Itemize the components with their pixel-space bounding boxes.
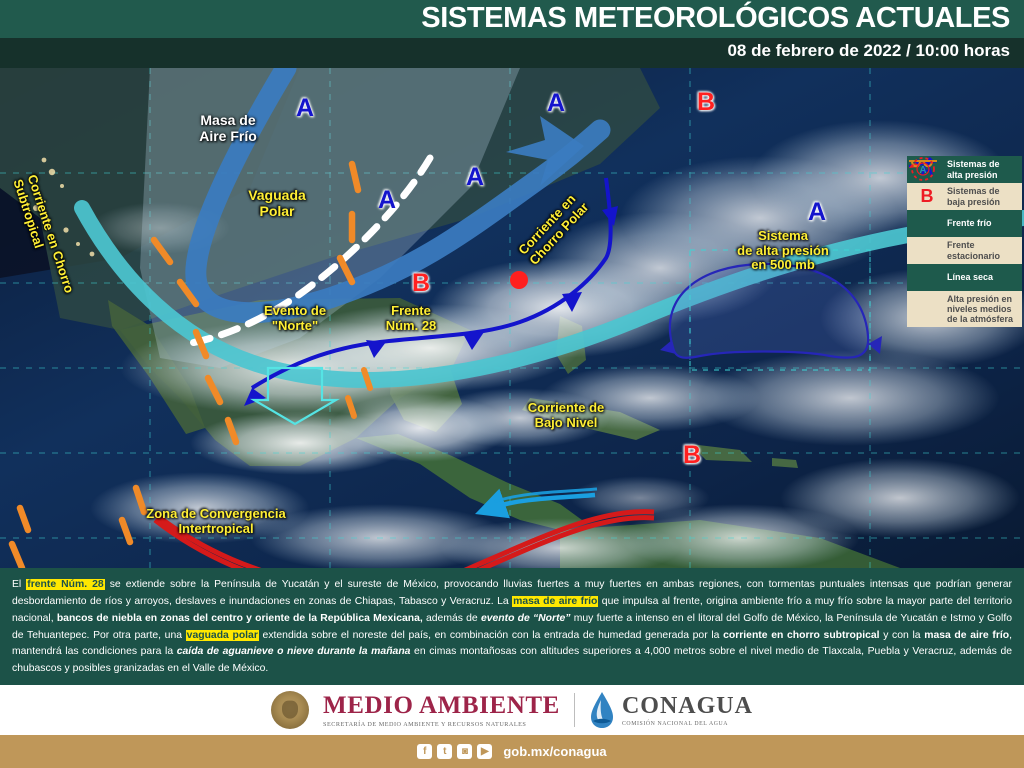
conagua-water-drop-icon: [589, 691, 615, 729]
pressure-marker-A: A: [378, 186, 396, 215]
mexico-coat-of-arms-icon: [271, 691, 309, 729]
facebook-icon[interactable]: f: [417, 744, 432, 759]
legend-row-3: Frente estacionario: [907, 237, 1022, 264]
twitter-icon[interactable]: t: [437, 744, 452, 759]
legend-label-4: Línea seca: [947, 269, 996, 285]
pressure-marker-B: B: [683, 441, 701, 470]
youtube-icon[interactable]: ▶: [477, 744, 492, 759]
legend-row-4: Línea seca: [907, 264, 1022, 291]
weather-bulletin-page: SISTEMAS METEOROLÓGICOS ACTUALES 08 de f…: [0, 0, 1024, 768]
satellite-weather-map[interactable]: Masa de Aire Frío Vaguada Polar Corrient…: [0, 68, 1024, 568]
legend-row-1: BSistemas de baja presión: [907, 183, 1022, 210]
text-emphasis: vaguada polar: [186, 630, 259, 641]
conagua-wordmark: CONAGUA: [622, 694, 753, 718]
text-emphasis: corriente en chorro subtropical: [723, 630, 879, 641]
letter-B-red-icon: B: [921, 186, 934, 207]
forecast-text-panel: El frente Núm. 28 se extiende sobre la P…: [0, 568, 1024, 685]
pressure-marker-A: A: [808, 198, 826, 227]
front-low-center: [510, 271, 528, 289]
text-emphasis: caída de aguanieve o nieve durante la ma…: [177, 646, 411, 657]
legend-label-0: Sistemas de alta presión: [947, 156, 1003, 182]
website-url[interactable]: gob.mx/conagua: [503, 744, 606, 759]
text-emphasis: masa de aire frío: [924, 630, 1009, 641]
letter-B-red: B: [907, 186, 947, 207]
pressure-marker-A: A: [547, 89, 565, 118]
page-title: SISTEMAS METEOROLÓGICOS ACTUALES: [421, 2, 1010, 35]
text-emphasis: masa de aire frío: [512, 596, 598, 607]
bulletin-timestamp: 08 de febrero de 2022 / 10:00 horas: [727, 41, 1010, 61]
map-legend: ASistemas de alta presiónBSistemas de ba…: [907, 156, 1022, 327]
logo-divider: [574, 693, 575, 727]
conagua-subtitle: COMISIÓN NACIONAL DEL AGUA: [622, 721, 753, 727]
svg-text:A: A: [919, 165, 926, 176]
text-emphasis: bancos de niebla en zonas del centro y o…: [57, 613, 423, 624]
legend-label-2: Frente frío: [947, 215, 995, 231]
legend-label-3: Frente estacionario: [947, 237, 1003, 263]
map-graphics: [0, 68, 1024, 568]
social-media-strip: f t ◙ ▶ gob.mx/conagua: [0, 735, 1024, 768]
mid-level-high-icon: A: [907, 156, 939, 182]
pressure-marker-A: A: [296, 94, 314, 123]
legend-row-2: Frente frío: [907, 210, 1022, 237]
medio-ambiente-wordmark: MEDIO AMBIENTE: [323, 693, 560, 718]
text-emphasis: evento de “Norte”: [481, 613, 571, 624]
pressure-marker-B: B: [412, 269, 430, 298]
medio-ambiente-subtitle: SECRETARÍA DE MEDIO AMBIENTE Y RECURSOS …: [323, 721, 560, 728]
legend-label-1: Sistemas de baja presión: [947, 183, 1003, 209]
footer-logos: MEDIO AMBIENTE SECRETARÍA DE MEDIO AMBIE…: [0, 685, 1024, 735]
legend-label-5: Alta presión en niveles medios de la atm…: [947, 291, 1016, 327]
forecast-paragraph: El frente Núm. 28 se extiende sobre la P…: [0, 568, 1024, 678]
pressure-marker-A: A: [466, 163, 484, 192]
legend-row-5: AAlta presión en niveles medios de la at…: [907, 291, 1022, 327]
text-emphasis: frente Núm. 28: [26, 579, 104, 590]
instagram-icon[interactable]: ◙: [457, 744, 472, 759]
pressure-marker-B: B: [697, 88, 715, 117]
